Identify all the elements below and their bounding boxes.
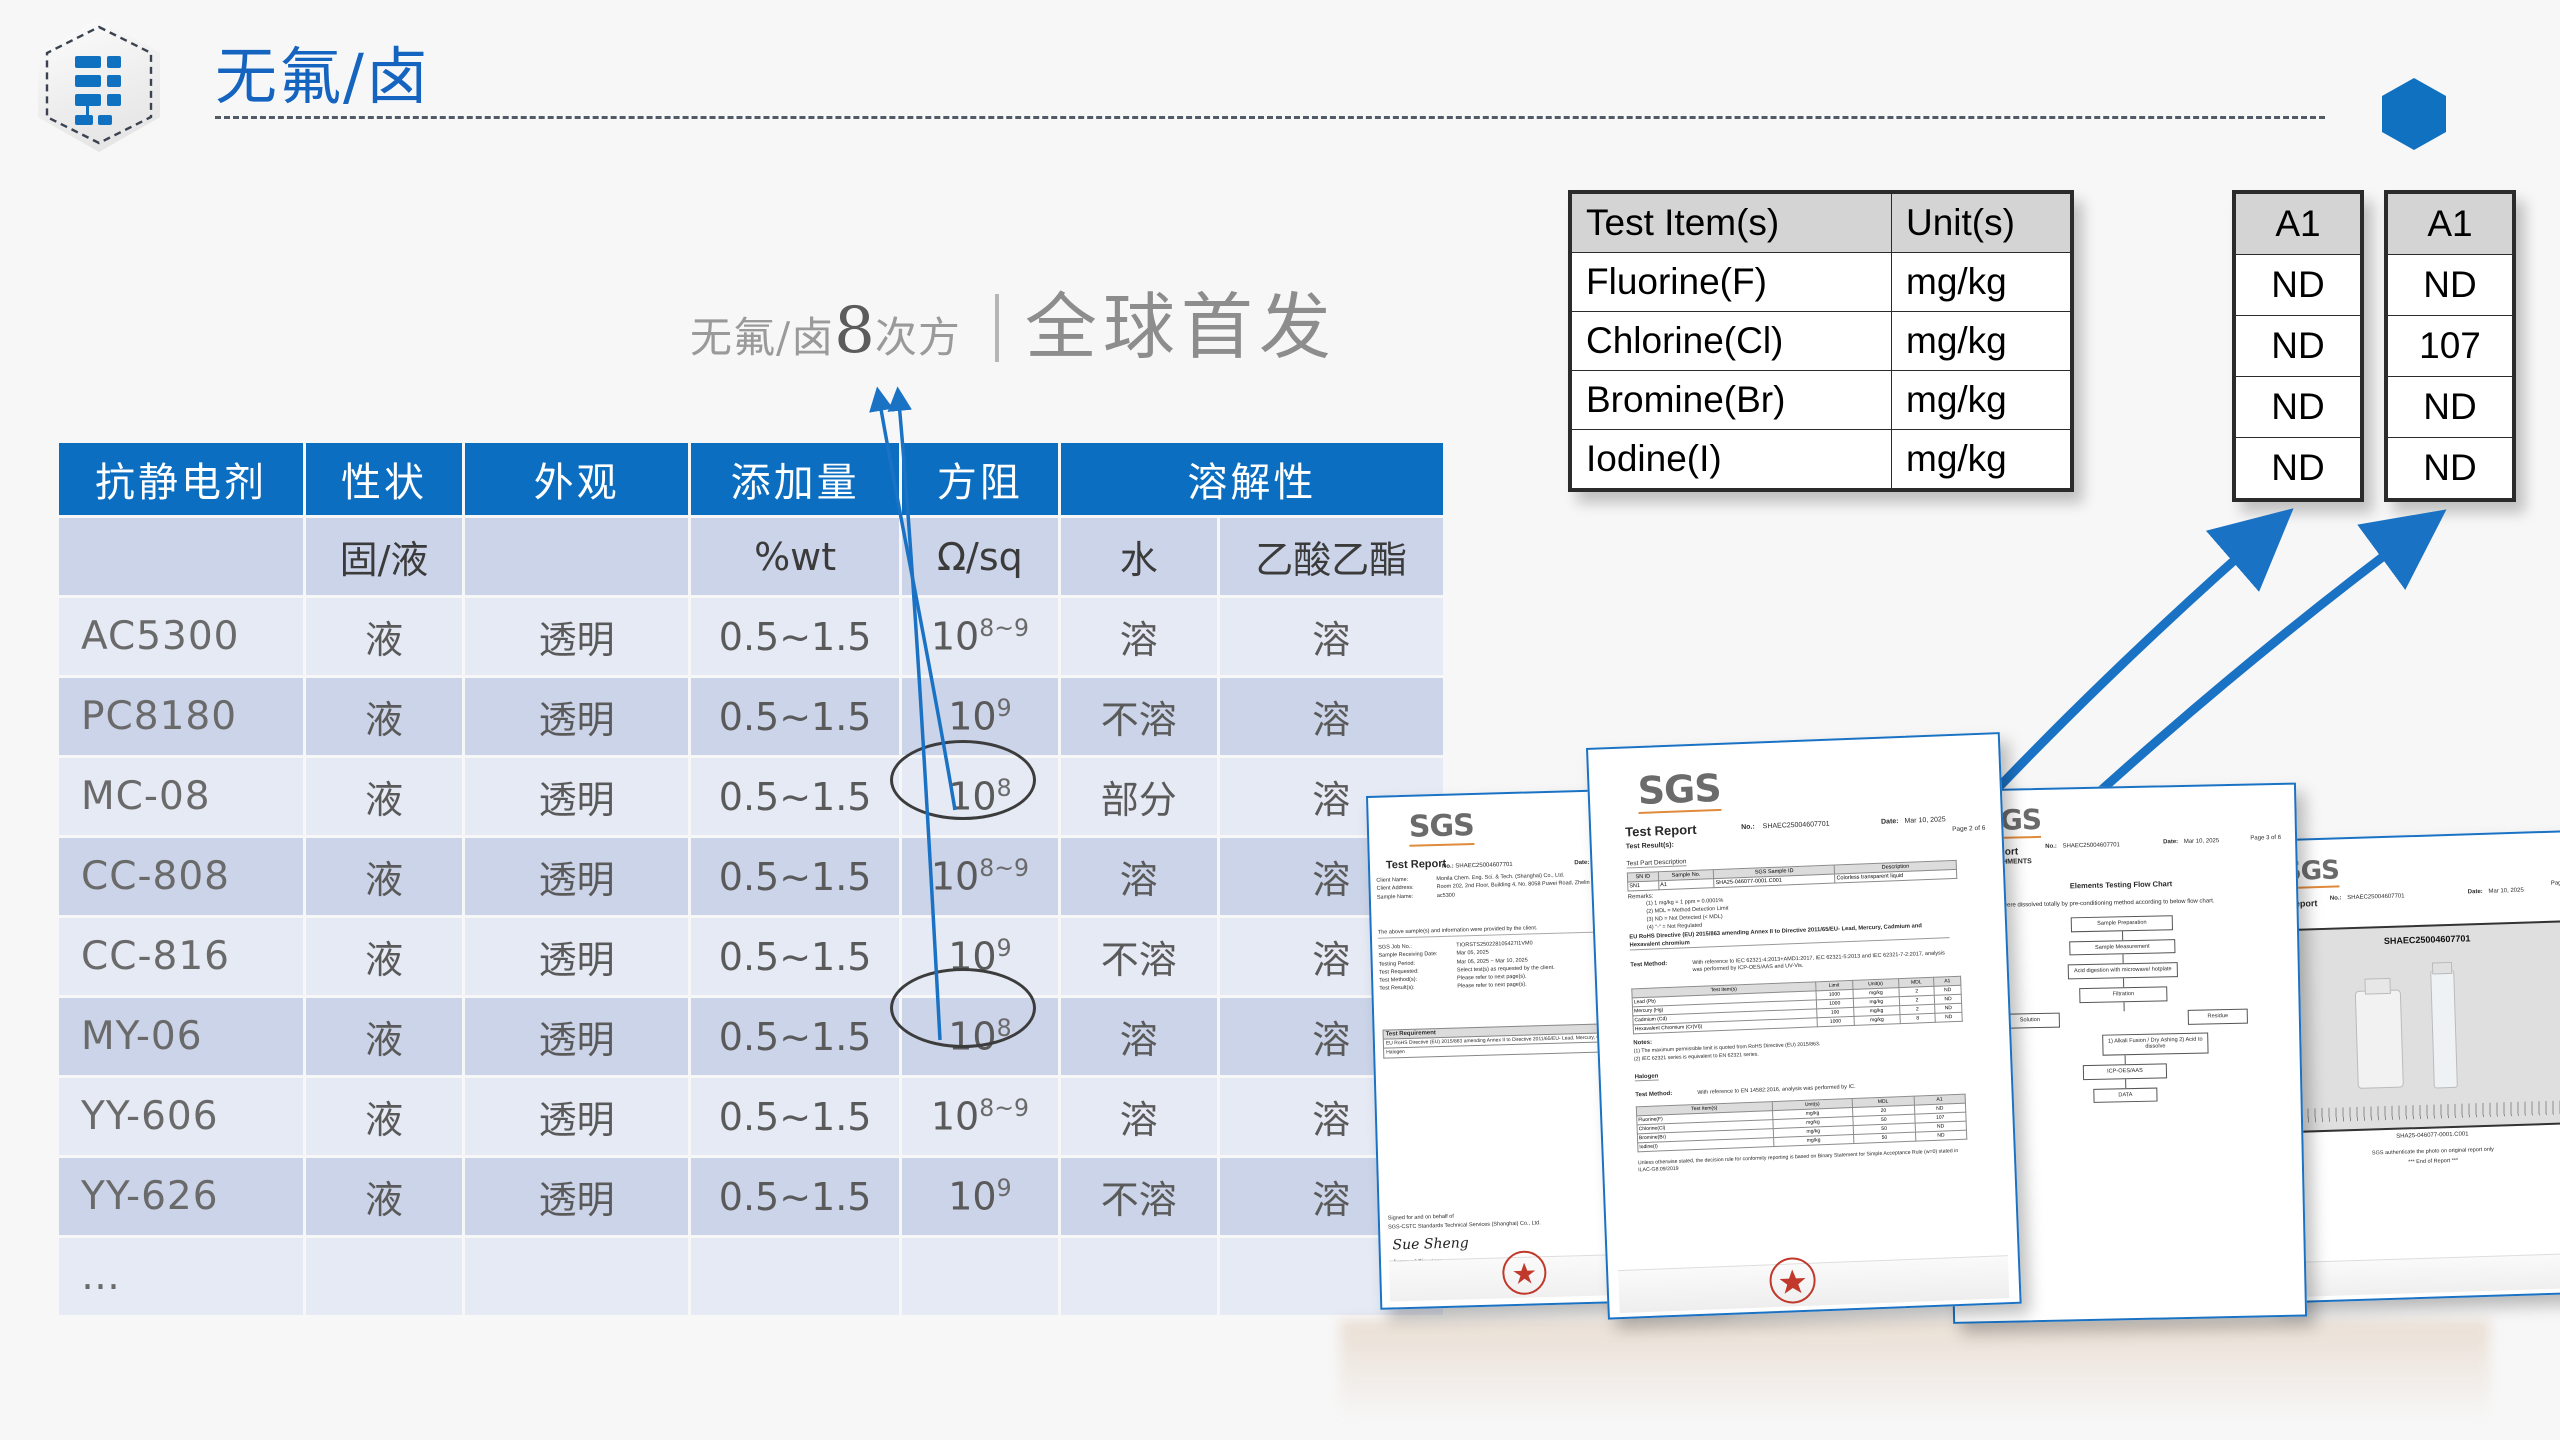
result-column-b: A1 ND107NDND (2384, 190, 2516, 502)
cell-agent-name: YY-606 (59, 1078, 303, 1155)
result-column-a: A1 NDNDNDND (2232, 190, 2364, 502)
doc3-date-value: Mar 10, 2025 (2184, 838, 2219, 845)
flow-node: Residue (2188, 1008, 2248, 1024)
cell-sheet-resistance: 109 (902, 678, 1058, 755)
doc2-part-td: SN1 (1628, 881, 1659, 891)
doc2-part-desc: Test Part Description (1626, 858, 1686, 868)
cell-dosage: 0.5~1.5 (691, 838, 899, 915)
col-header-dosage: 添加量 (691, 443, 899, 515)
result-a-row: ND (2236, 255, 2361, 316)
col-header-resistance: 方阻 (902, 443, 1058, 515)
doc2-no-value: SHAEC25004607701 (1763, 821, 1830, 831)
cell-sheet-resistance: 108 (902, 998, 1058, 1075)
slide-canvas: 无氟/卤 无氟/卤 8 次方 全球首发 抗静电剂 性状 外观 添加量 方阻 溶解… (0, 0, 2560, 1440)
cell-appearance: 透明 (465, 1158, 688, 1235)
result-b-row: 107 (2388, 316, 2513, 377)
header-divider (215, 116, 2325, 119)
stamp-icon (1768, 1256, 1818, 1306)
test-item-name: Chlorine(Cl) (1572, 312, 1892, 371)
th-units: Unit(s) (1892, 194, 2071, 253)
table-row: CC-816液透明0.5~1.5109不溶溶 (59, 918, 1443, 995)
cell-appearance: 透明 (465, 838, 688, 915)
doc3-page: Page 3 of 6 (2250, 835, 2281, 842)
cell-agent-name: CC-816 (59, 918, 303, 995)
test-item-name: Bromine(Br) (1572, 371, 1892, 430)
flow-arrow (2121, 931, 2122, 940)
result-a-value: ND (2236, 255, 2361, 316)
table-unit-row: 固/液%wtΩ/sq水乙酸乙酯 (59, 518, 1443, 595)
cell-form: 液 (306, 758, 462, 835)
unit-cell-2 (465, 518, 688, 595)
antistatic-agents-table: 抗静电剂 性状 外观 添加量 方阻 溶解性 固/液%wtΩ/sq水乙酸乙酯AC5… (56, 440, 1446, 1318)
table-row: … (59, 1238, 1443, 1315)
cell-solubility-water: 不溶 (1061, 918, 1217, 995)
test-item-unit: mg/kg (1892, 253, 2071, 312)
doc4-date-label: Date: (2468, 889, 2483, 895)
cell-solubility-water: 溶 (1061, 598, 1217, 675)
result-a-row: ND (2236, 438, 2361, 499)
col-header-form: 性状 (306, 443, 462, 515)
doc2-halogen-cell: mg/kg (1773, 1135, 1854, 1147)
doc3-date-label: Date: (2163, 839, 2178, 845)
cell-dosage: 0.5~1.5 (691, 998, 899, 1075)
result-a-value: ND (2236, 316, 2361, 377)
doc3-chart-note: These samples were dissolved totally by … (1960, 897, 2280, 910)
doc4-no-value: SHAEC25004607701 (2347, 893, 2405, 901)
test-item-name: Iodine(I) (1572, 430, 1892, 489)
unit-cell-0 (59, 518, 303, 595)
doc2-notes-label: Notes: (1633, 1040, 1652, 1047)
test-item-row: Bromine(Br)mg/kg (1572, 371, 2071, 430)
flow-node: DATA (2093, 1087, 2157, 1103)
slide-header: 无氟/卤 (0, 0, 2560, 170)
cell-solubility-water: 不溶 (1061, 678, 1217, 755)
headline-power: 8 (834, 294, 875, 368)
headline-main: 全球首发 (1025, 268, 1337, 373)
doc2-rohs-table: Test Item(s)LimitUnit(s)MDLA1 Lead (Pb)1… (1631, 976, 1963, 1035)
sgs-logo-1: SGS (1408, 811, 1474, 847)
result-b-value: 107 (2388, 316, 2513, 377)
cell-appearance: 透明 (465, 598, 688, 675)
doc4-photo-caption: SHAEC25004607701 (2289, 930, 2560, 949)
cell-appearance: 透明 (465, 678, 688, 755)
test-item-row: Iodine(I)mg/kg (1572, 430, 2071, 489)
flow-arrow (2122, 978, 2123, 987)
col-header-appearance: 外观 (465, 443, 688, 515)
doc4-page: Page 6 of 6 (2551, 880, 2560, 887)
cell-form: 液 (306, 838, 462, 915)
cell-agent-name: YY-626 (59, 1158, 303, 1235)
table-row: YY-626液透明0.5~1.5109不溶溶 (59, 1158, 1443, 1235)
cell-form: 液 (306, 1158, 462, 1235)
doc2-remarks-label: Remarks: (1628, 894, 1654, 901)
cell-solubility-water: 溶 (1061, 838, 1217, 915)
doc4-no-label: No.: (2330, 895, 2342, 901)
result-a-value: ND (2236, 377, 2361, 438)
cell-appearance: 透明 (465, 1078, 688, 1155)
doc2-title: Test Report (1625, 822, 1697, 840)
unit-cell-1: 固/液 (306, 518, 462, 595)
result-b-row: ND (2388, 377, 2513, 438)
doc2-halogen-title: Halogen (1635, 1073, 1659, 1081)
cell-solubility-water: 溶 (1061, 998, 1217, 1075)
table-row: YY-606液透明0.5~1.5108~9溶溶 (59, 1078, 1443, 1155)
cell-appearance: 透明 (465, 918, 688, 995)
doc2-rohs-cell: ND (1935, 1012, 1962, 1022)
doc1-signature: Sue Sheng (1392, 1235, 1469, 1253)
server-rack-icon (38, 18, 160, 152)
doc1-no-label: No.: (1442, 864, 1454, 870)
sgs-logo-2: SGS (1637, 769, 1721, 814)
flow-node: Acid digestion with microwave/ hotplate (2068, 963, 2178, 980)
doc2-halogen-method-label: Test Method: (1635, 1091, 1672, 1098)
doc2-halogen-method: With reference to EN 14582:2016, analysi… (1697, 1084, 1855, 1096)
result-b-row: ND (2388, 255, 2513, 316)
doc2-rohs-cell: mg/kg (1854, 1015, 1901, 1026)
result-a-value: ND (2236, 438, 2361, 499)
col-header-agent: 抗静电剂 (59, 443, 303, 515)
cell-agent-name: … (59, 1238, 303, 1315)
doc4-date-value: Mar 10, 2025 (2488, 888, 2524, 895)
result-a-row: ND (2236, 316, 2361, 377)
doc2-rohs-cell: 1000 (1817, 1016, 1854, 1026)
cell-form: 液 (306, 1078, 462, 1155)
doc1-sign2: SGS-CSTC Standards Technical Services (S… (1388, 1220, 1541, 1230)
test-item-row: Fluorine(F)mg/kg (1572, 253, 2071, 312)
cell-solubility-water: 不溶 (1061, 1158, 1217, 1235)
document-reflection (1340, 1320, 2490, 1420)
cell-form: 液 (306, 598, 462, 675)
doc2-rohs-cell: 8 (1900, 1013, 1936, 1023)
doc2-date-label: Date: (1881, 818, 1899, 826)
flow-node: 1) Alkali Fusion / Dry Ashing 2) Acid to… (2102, 1032, 2208, 1056)
cell-solubility-water (1061, 1238, 1217, 1315)
flow-arrow (2125, 1079, 2126, 1088)
sgs-report-page2: SGS Test Report No.: SHAEC25004607701 Da… (1586, 732, 2022, 1319)
test-items-table: Test Item(s) Unit(s) Fluorine(F)mg/kgChl… (1568, 190, 2074, 492)
cell-form: 液 (306, 998, 462, 1075)
doc1-sign: Signed for and on behalf of (1388, 1214, 1454, 1222)
doc2-result-label: Test Result(s): (1626, 842, 1674, 851)
test-item-row: Chlorine(Cl)mg/kg (1572, 312, 2071, 371)
flow-node: Sample Preparation (2071, 915, 2173, 932)
doc2-page: Page 2 of 6 (1952, 825, 1985, 833)
cell-dosage: 0.5~1.5 (691, 918, 899, 995)
test-item-unit: mg/kg (1892, 312, 2071, 371)
table-row: MC-08液透明0.5~1.5108部分溶 (59, 758, 1443, 835)
cell-agent-name: MY-06 (59, 998, 303, 1075)
table-row: PC8180液透明0.5~1.5109不溶溶 (59, 678, 1443, 755)
cell-dosage: 0.5~1.5 (691, 1078, 899, 1155)
cell-solubility-water: 部分 (1061, 758, 1217, 835)
unit-cell-3: %wt (691, 518, 899, 595)
flow-node: Sample Measurement (2069, 939, 2175, 956)
cell-dosage (691, 1238, 899, 1315)
doc2-part-td: A1 (1658, 879, 1714, 890)
cell-sheet-resistance: 108 (902, 758, 1058, 835)
flow-node: ICP-OES/AAS (2083, 1063, 2167, 1079)
blue-hexagon-icon (2382, 78, 2446, 150)
doc2-method-text: With reference to IEC 62321-4:2013+AMD1:… (1692, 950, 1950, 975)
cell-dosage: 0.5~1.5 (691, 1158, 899, 1235)
cell-sheet-resistance: 109 (902, 918, 1058, 995)
result-b-value: ND (2388, 377, 2513, 438)
cell-dosage: 0.5~1.5 (691, 598, 899, 675)
doc3-no-label: No.: (2045, 844, 2057, 850)
cell-agent-name: PC8180 (59, 678, 303, 755)
test-item-unit: mg/kg (1892, 371, 2071, 430)
cell-sheet-resistance: 108~9 (902, 838, 1058, 915)
cell-sheet-resistance: 108~9 (902, 598, 1058, 675)
cell-dosage: 0.5~1.5 (691, 758, 899, 835)
cell-form: 液 (306, 678, 462, 755)
headline-prefix: 无氟/卤 (690, 304, 834, 365)
unit-cell-4: Ω/sq (902, 518, 1058, 595)
doc3-no-value: SHAEC25004607701 (2062, 842, 2120, 849)
headline-divider (995, 294, 999, 362)
th-a1-left: A1 (2236, 194, 2361, 255)
doc2-no-label: No.: (1741, 824, 1755, 832)
table-header-row: 抗静电剂 性状 外观 添加量 方阻 溶解性 (59, 443, 1443, 515)
stamp-icon (1501, 1249, 1548, 1296)
flow-node: Filtration (2079, 986, 2167, 1003)
flow-arrow (2122, 955, 2123, 964)
cell-sheet-resistance (902, 1238, 1058, 1315)
result-b-value: ND (2388, 255, 2513, 316)
flow-arrow (2123, 1002, 2124, 1011)
table-row: CC-808液透明0.5~1.5108~9溶溶 (59, 838, 1443, 915)
headline-suffix: 次方 (875, 304, 961, 365)
cell-sheet-resistance: 108~9 (902, 1078, 1058, 1155)
test-item-unit: mg/kg (1892, 430, 2071, 489)
cell-form (306, 1238, 462, 1315)
result-b-value: ND (2388, 438, 2513, 499)
cell-appearance: 透明 (465, 758, 688, 835)
doc2-date-value: Mar 10, 2025 (1904, 816, 1945, 825)
unit-cell-5: 水 (1061, 518, 1217, 595)
doc2-method-label: Test Method: (1630, 961, 1667, 968)
col-header-solubility: 溶解性 (1061, 443, 1443, 515)
cell-appearance (465, 1238, 688, 1315)
cell-agent-name: MC-08 (59, 758, 303, 835)
test-item-name: Fluorine(F) (1572, 253, 1892, 312)
unit-cell-6: 乙酸乙酯 (1220, 518, 1443, 595)
cell-solubility-ethyl-acetate: 溶 (1220, 678, 1443, 755)
flow-arrow (2124, 1055, 2125, 1064)
result-b-row: ND (2388, 438, 2513, 499)
doc2-footer: Unless otherwise stated, the decision ru… (1638, 1148, 1968, 1175)
doc2-halogen-cell: 50 (1854, 1132, 1916, 1143)
table-row: AC5300液透明0.5~1.5108~9溶溶 (59, 598, 1443, 675)
cell-dosage: 0.5~1.5 (691, 678, 899, 755)
cell-solubility-water: 溶 (1061, 1078, 1217, 1155)
cell-agent-name: CC-808 (59, 838, 303, 915)
doc2-halogen-table: Test Item(s)Unit(s)MDLA1 Fluorine(F)mg/k… (1636, 1094, 1968, 1153)
doc2-halogen-cell: ND (1915, 1130, 1967, 1141)
result-a-row: ND (2236, 377, 2361, 438)
cell-agent-name: AC5300 (59, 598, 303, 675)
th-a1-right: A1 (2388, 194, 2513, 255)
table-row: MY-06液透明0.5~1.5108溶溶 (59, 998, 1443, 1075)
th-test-items: Test Item(s) (1572, 194, 1892, 253)
cell-appearance: 透明 (465, 998, 688, 1075)
cell-solubility-ethyl-acetate: 溶 (1220, 598, 1443, 675)
doc1-date-label: Date: (1574, 860, 1589, 866)
headline: 无氟/卤 8 次方 全球首发 (690, 268, 1337, 373)
cell-form: 液 (306, 918, 462, 995)
doc1-no-value: SHAEC25004607701 (1455, 862, 1513, 870)
cell-sheet-resistance: 109 (902, 1158, 1058, 1235)
sample-photo: SHAEC25004607701 (2287, 920, 2560, 1133)
page-title: 无氟/卤 (215, 26, 430, 116)
